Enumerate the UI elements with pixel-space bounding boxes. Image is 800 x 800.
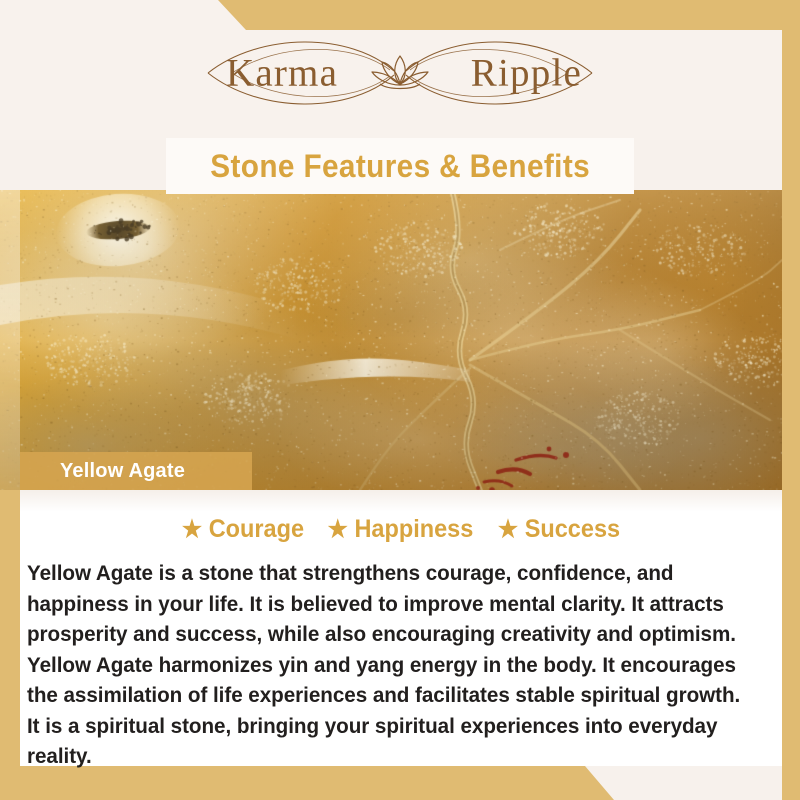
brand-logo: Karma Ripple <box>180 34 620 112</box>
section-title-banner: Stone Features & Benefits <box>166 138 634 194</box>
benefit-item: ★Courage <box>181 515 303 544</box>
benefit-label: Success <box>525 515 620 544</box>
benefit-label: Courage <box>208 515 303 544</box>
star-icon: ★ <box>328 518 348 542</box>
infographic-page: Karma Ripple Stone Features & Benefits Y… <box>0 0 800 800</box>
gold-left-border <box>0 488 20 800</box>
gold-right-border <box>782 0 800 800</box>
stone-photo <box>0 190 782 490</box>
agate-texture-canvas <box>0 190 782 490</box>
star-icon: ★ <box>498 518 518 542</box>
benefit-item: ★Happiness <box>328 515 474 544</box>
stone-name-text: Yellow Agate <box>20 460 185 483</box>
page-title: Stone Features & Benefits <box>210 148 590 185</box>
description-text: Yellow Agate is a stone that strengthens… <box>27 558 753 772</box>
content-panel: ★Courage★Happiness★Success Yellow Agate … <box>20 490 782 766</box>
benefit-label: Happiness <box>355 515 474 544</box>
brand-name-right: Ripple <box>471 54 582 93</box>
stone-name-badge: Yellow Agate <box>20 452 252 490</box>
benefit-item: ★Success <box>498 515 620 544</box>
benefits-row: ★Courage★Happiness★Success <box>20 515 782 544</box>
brand-name-left: Karma <box>226 54 338 93</box>
star-icon: ★ <box>181 518 201 542</box>
stone-left-overlay <box>0 190 20 490</box>
